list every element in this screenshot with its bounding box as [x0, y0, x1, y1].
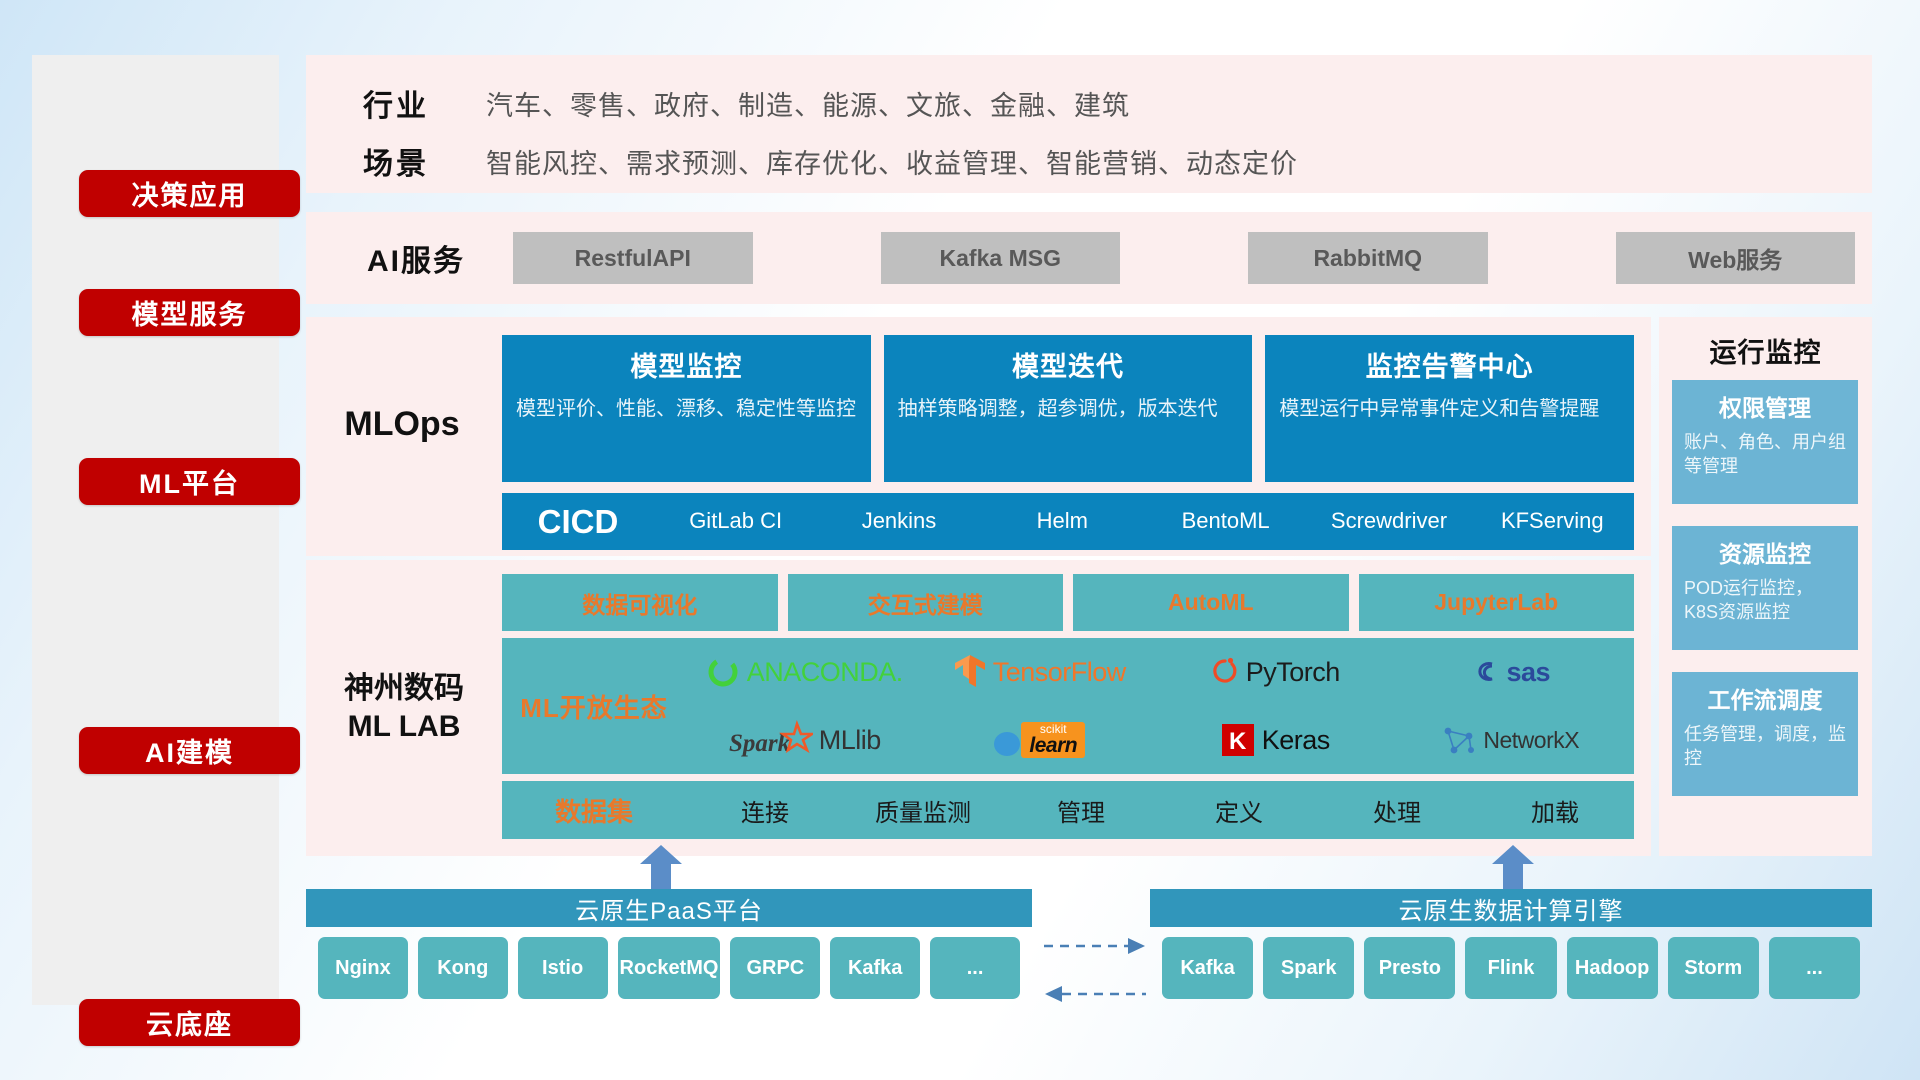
rail-label: 模型服务 — [132, 293, 248, 332]
rail-item-decision[interactable]: 决策应用 — [79, 170, 300, 217]
ops-card-title: 资源监控 — [1684, 535, 1846, 569]
dataset-item[interactable]: 管理 — [1002, 793, 1160, 828]
industry-label: 行业 — [306, 81, 486, 125]
industry-row: 行业 汽车、零售、政府、制造、能源、文旅、金融、建筑 — [306, 77, 1130, 129]
tensorflow-icon — [953, 653, 987, 691]
ai-service-chip[interactable]: RestfulAPI — [513, 232, 753, 284]
data-engine-chip-list: Kafka Spark Presto Flink Hadoop Storm ..… — [1150, 937, 1872, 999]
data-engine-chip[interactable]: Storm — [1668, 937, 1759, 999]
ai-service-label: AI服务 — [326, 236, 506, 280]
dataset-item[interactable]: 处理 — [1318, 793, 1476, 828]
up-arrow-icon-data-engine — [1490, 845, 1536, 889]
ops-card-desc: POD运行监控，K8S资源监控 — [1684, 576, 1846, 624]
cicd-item[interactable]: GitLab CI — [654, 507, 817, 535]
rail-label: 云底座 — [146, 1003, 233, 1042]
data-engine-chip[interactable]: Flink — [1465, 937, 1556, 999]
data-engine-header: 云原生数据计算引擎 — [1150, 889, 1872, 927]
paas-chip-more[interactable]: ... — [930, 937, 1020, 999]
ml-ecosystem-logo-grid: ANACONDA. TensorFlow PyTorch — [686, 638, 1634, 774]
ml-lab-tool[interactable]: 交互式建模 — [788, 574, 1064, 631]
cicd-item[interactable]: Screwdriver — [1307, 507, 1470, 535]
ops-card[interactable]: 工作流调度 任务管理，调度，监控 — [1672, 672, 1858, 796]
ml-lab-label-line2: ML LAB — [311, 708, 497, 746]
ml-ecosystem-label: ML开放生态 — [502, 688, 686, 725]
mlops-card-title: 监控告警中心 — [1279, 345, 1620, 384]
ops-monitor-title: 运行监控 — [1659, 331, 1872, 370]
rail-label: AI建模 — [145, 731, 234, 770]
mlops-card-desc: 模型运行中异常事件定义和告警提醒 — [1279, 396, 1620, 424]
rail-item-ml-platform[interactable]: ML平台 — [79, 458, 300, 505]
mlops-card-title: 模型迭代 — [898, 345, 1239, 384]
rail-item-cloud-base[interactable]: 云底座 — [79, 999, 300, 1046]
dataset-item[interactable]: 定义 — [1160, 793, 1318, 828]
ml-lab-label-line1: 神州数码 — [311, 670, 497, 708]
ops-card-title: 工作流调度 — [1684, 681, 1846, 715]
svg-text:K: K — [1229, 728, 1247, 755]
scenario-value: 智能风控、需求预测、库存优化、收益管理、智能营销、动态定价 — [486, 142, 1298, 181]
tensorflow-logo-text: TensorFlow — [993, 657, 1126, 688]
sas-logo: sas — [1470, 657, 1550, 688]
dataset-label: 数据集 — [502, 792, 686, 829]
rail-item-model-service[interactable]: 模型服务 — [79, 289, 300, 336]
ai-service-chip[interactable]: Web服务 — [1616, 232, 1856, 284]
data-engine-chip[interactable]: Kafka — [1162, 937, 1253, 999]
layer-rail: 决策应用 模型服务 ML平台 AI建模 云底座 — [32, 55, 279, 1005]
mlops-label: MLOps — [311, 405, 493, 444]
keras-icon: K — [1220, 722, 1256, 758]
ml-lab-label: 神州数码 ML LAB — [311, 670, 497, 747]
data-engine-chip[interactable]: Spark — [1263, 937, 1354, 999]
ops-card[interactable]: 权限管理 账户、角色、用户组等管理 — [1672, 380, 1858, 504]
ml-lab-tool[interactable]: JupyterLab — [1359, 574, 1635, 631]
ops-card-desc: 任务管理，调度，监控 — [1684, 722, 1846, 770]
ai-service-chip[interactable]: Kafka MSG — [881, 232, 1121, 284]
pytorch-icon — [1210, 654, 1240, 690]
paas-chip[interactable]: Nginx — [318, 937, 408, 999]
ml-lab-tool[interactable]: 数据可视化 — [502, 574, 778, 631]
cicd-title: CICD — [502, 503, 654, 541]
diagram-canvas: 决策应用 模型服务 ML平台 AI建模 云底座 行业 汽车、零售、政府、制造、能… — [0, 0, 1920, 1080]
ai-service-panel: AI服务 RestfulAPI Kafka MSG RabbitMQ Web服务 — [306, 212, 1872, 304]
ml-lab-tool[interactable]: AutoML — [1073, 574, 1349, 631]
cicd-item[interactable]: BentoML — [1144, 507, 1307, 535]
paas-chip[interactable]: GRPC — [730, 937, 820, 999]
ops-card[interactable]: 资源监控 POD运行监控，K8S资源监控 — [1672, 526, 1858, 650]
paas-chip[interactable]: RocketMQ — [618, 937, 721, 999]
data-engine-chip[interactable]: Presto — [1364, 937, 1455, 999]
data-engine-chip[interactable]: Hadoop — [1567, 937, 1658, 999]
dataset-item[interactable]: 质量监测 — [844, 793, 1002, 828]
networkx-logo-text: NetworkX — [1483, 727, 1579, 754]
sas-logo-text: sas — [1506, 657, 1550, 688]
cicd-item[interactable]: Jenkins — [817, 507, 980, 535]
dataset-item[interactable]: 连接 — [686, 793, 844, 828]
rail-item-ai-modeling[interactable]: AI建模 — [79, 727, 300, 774]
scikit-learn-logo: scikit learn — [993, 721, 1085, 759]
mlops-card[interactable]: 监控告警中心 模型运行中异常事件定义和告警提醒 — [1265, 335, 1634, 482]
business-panel: 行业 汽车、零售、政府、制造、能源、文旅、金融、建筑 场景 智能风控、需求预测、… — [306, 55, 1872, 193]
anaconda-logo-text: ANACONDA. — [747, 657, 903, 688]
networkx-logo: NetworkX — [1441, 723, 1579, 757]
anaconda-logo: ANACONDA. — [705, 654, 903, 690]
keras-logo-text: Keras — [1262, 725, 1330, 756]
ml-lab-tool-list: 数据可视化 交互式建模 AutoML JupyterLab — [502, 574, 1634, 631]
tensorflow-logo: TensorFlow — [953, 653, 1126, 691]
pytorch-logo: PyTorch — [1210, 654, 1340, 690]
mlops-card[interactable]: 模型迭代 抽样策略调整，超参调优，版本迭代 — [884, 335, 1253, 482]
ai-service-chip[interactable]: RabbitMQ — [1248, 232, 1488, 284]
bidirectional-link-arrows-icon — [1040, 930, 1150, 1010]
sas-icon — [1470, 657, 1500, 687]
paas-chip[interactable]: Kafka — [830, 937, 920, 999]
up-arrow-icon-paas — [638, 845, 684, 889]
mlops-card-title: 模型监控 — [516, 345, 857, 384]
spark-mllib-logo: Spark MLlib — [727, 720, 881, 760]
mlops-card[interactable]: 模型监控 模型评价、性能、漂移、稳定性等监控 — [502, 335, 871, 482]
data-engine-chip-more[interactable]: ... — [1769, 937, 1860, 999]
ml-lab-panel: 神州数码 ML LAB 数据可视化 交互式建模 AutoML JupyterLa… — [306, 560, 1651, 856]
mlops-card-desc: 抽样策略调整，超参调优，版本迭代 — [898, 396, 1239, 424]
mlops-panel: MLOps 模型监控 模型评价、性能、漂移、稳定性等监控 模型迭代 抽样策略调整… — [306, 317, 1651, 556]
scenario-row: 场景 智能风控、需求预测、库存优化、收益管理、智能营销、动态定价 — [306, 135, 1298, 187]
anaconda-icon — [705, 654, 741, 690]
keras-logo: K Keras — [1220, 722, 1330, 758]
ops-monitor-panel: 运行监控 权限管理 账户、角色、用户组等管理 资源监控 POD运行监控，K8S资… — [1659, 317, 1872, 856]
rail-label: ML平台 — [139, 462, 240, 501]
networkx-icon — [1441, 723, 1477, 757]
paas-chip[interactable]: Kong — [418, 937, 508, 999]
paas-platform-block: 云原生PaaS平台 Nginx Kong Istio RocketMQ GRPC… — [306, 889, 1032, 1017]
cicd-item[interactable]: KFServing — [1471, 507, 1634, 535]
mllib-logo-text: MLlib — [819, 725, 881, 756]
paas-header: 云原生PaaS平台 — [306, 889, 1032, 927]
spark-icon: Spark — [727, 720, 813, 760]
ops-card-title: 权限管理 — [1684, 389, 1846, 423]
dataset-band: 数据集 连接 质量监测 管理 定义 处理 加载 — [502, 781, 1634, 839]
ml-ecosystem-band: ML开放生态 ANACONDA. TensorFlow — [502, 638, 1634, 774]
mlops-card-desc: 模型评价、性能、漂移、稳定性等监控 — [516, 396, 857, 424]
cicd-bar: CICD GitLab CI Jenkins Helm BentoML Scre… — [502, 493, 1634, 550]
scenario-label: 场景 — [306, 139, 486, 183]
paas-chip-list: Nginx Kong Istio RocketMQ GRPC Kafka ... — [306, 937, 1032, 999]
rail-label: 决策应用 — [132, 174, 248, 213]
scikit-learn-logo-text: learn — [1029, 735, 1077, 756]
ai-service-chip-list: RestfulAPI Kafka MSG RabbitMQ Web服务 — [513, 232, 1855, 284]
dataset-item[interactable]: 加载 — [1476, 793, 1634, 828]
cicd-item[interactable]: Helm — [981, 507, 1144, 535]
paas-chip[interactable]: Istio — [518, 937, 608, 999]
data-engine-block: 云原生数据计算引擎 Kafka Spark Presto Flink Hadoo… — [1150, 889, 1872, 1017]
mlops-card-list: 模型监控 模型评价、性能、漂移、稳定性等监控 模型迭代 抽样策略调整，超参调优，… — [502, 335, 1634, 482]
ops-card-desc: 账户、角色、用户组等管理 — [1684, 430, 1846, 478]
pytorch-logo-text: PyTorch — [1246, 657, 1340, 688]
industry-value: 汽车、零售、政府、制造、能源、文旅、金融、建筑 — [486, 84, 1130, 123]
